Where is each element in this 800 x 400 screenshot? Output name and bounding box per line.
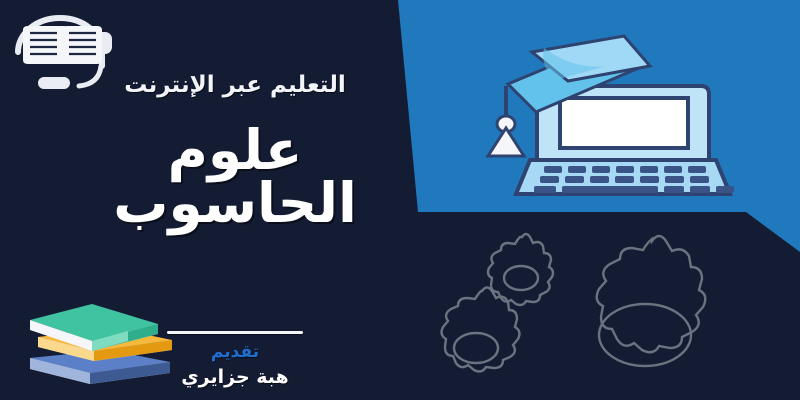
credit-block: تقديم هبة جزايري [167,331,303,400]
book-stack-icon [8,296,178,396]
book-headset-icon [12,8,122,98]
gears-icon [430,225,800,400]
presented-by-label: تقديم [211,342,259,362]
page-title-line-1: علوم [168,118,303,182]
laptop-graduation-cap-icon [478,6,778,216]
page-title-line-2: الحاسوب [113,176,357,231]
slide-eyebrow: التعليم عبر الإنترنت [124,74,345,97]
page-title: علوم الحاسوب [113,123,357,231]
divider [167,331,303,334]
presentation-slide: التعليم عبر الإنترنت علوم الحاسوب تقديم … [0,0,800,400]
author-name: هبة جزايري [181,365,288,390]
